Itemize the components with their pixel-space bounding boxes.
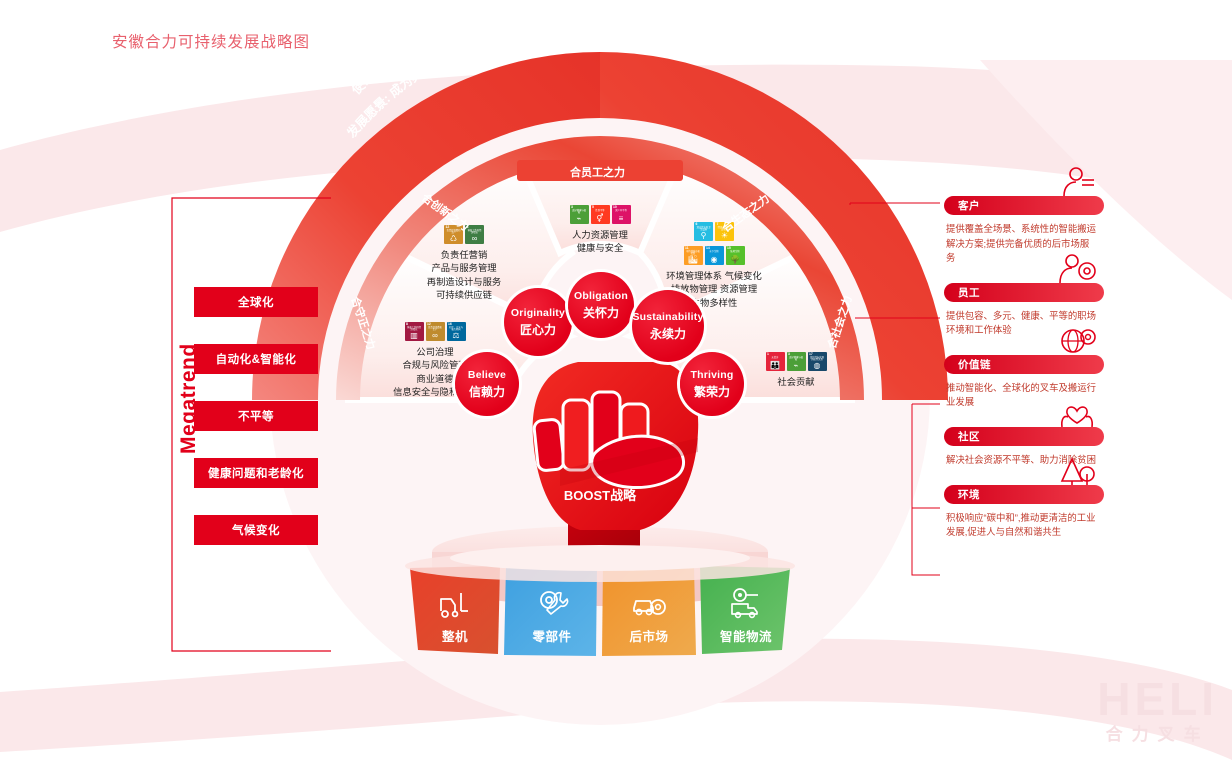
stakeholder-desc: 积极响应“碳中和”,推动更清洁的工业发展,促进人与自然和谐共生: [944, 511, 1098, 540]
megatrend-item-health-aging[interactable]: 健康问题和老龄化: [194, 458, 318, 488]
sdg-governance-icons: 8 体面工作和经济增长 ▥ 12 负责任消费和生产 ∞ 16 和平、正义与强大机…: [376, 322, 494, 341]
boost-circle-obligation[interactable]: Obligation 关怀力: [568, 272, 634, 338]
sdg-employee-icons: 3 良好健康与福祉 ⌁ 5 性别平等 ⚥ 10 减少不平等 ≡: [540, 205, 660, 224]
segment-parts[interactable]: 零部件: [508, 568, 596, 656]
stakeholder-label: 社区: [944, 427, 1104, 446]
wedge-arc-label-employee: 合员工之力: [570, 164, 625, 180]
stakeholder-panel: 客户 提供覆盖全场景、系统性的智能搬运解决方案;提供完备优质的后市场服务 员工 …: [944, 196, 1104, 557]
svg-text:BOOST战略: BOOST战略: [564, 488, 637, 503]
wedge-line: 社会贡献: [742, 376, 850, 389]
wedge-content-society: 1 无贫穷 👪 3 良好健康与福祉 ⌁ 17 促进目标实现的伙伴关系 ◍ 社会贡…: [742, 352, 850, 389]
megatrend-item-inequality[interactable]: 不平等: [194, 401, 318, 431]
sdg-tile: 12 负责任消费和生产 ∞: [426, 322, 445, 341]
sdg-tile: 17 促进目标实现的伙伴关系 ◍: [808, 352, 827, 371]
sdg-tile: 11 可持续城市和社区 🏙: [684, 246, 703, 265]
boost-circle-originality[interactable]: Originality 匠心力: [504, 288, 572, 356]
sdg-tile: 10 减少不平等 ≡: [612, 205, 631, 224]
segment-whole-machine[interactable]: 整机: [411, 568, 499, 656]
sdg-tile: 6 清洁饮水和卫生设施 ⚲: [694, 222, 713, 241]
tree-leaf-icon: [1056, 455, 1098, 487]
wedge-line: 健康与安全: [540, 242, 660, 255]
segment-aftermarket[interactable]: 后市场: [605, 568, 693, 656]
wedge-line: 环境管理体系 气候变化: [652, 270, 776, 283]
employee-gear-icon: [1056, 253, 1098, 285]
stakeholder-label: 客户: [944, 196, 1104, 215]
segment-smart-logistics[interactable]: 智能物流: [702, 568, 790, 656]
gear-wrench-icon: [535, 587, 569, 619]
sdg-tile: 3 良好健康与福祉 ⌁: [570, 205, 589, 224]
globe-gear-icon: [1056, 325, 1098, 357]
megatrend-list: 全球化 自动化&智能化 不平等 健康问题和老龄化 气候变化: [194, 287, 318, 572]
sdg-tile: 8 体面工作和经济增长 ▥: [405, 322, 424, 341]
wedge-line: 负责任营销: [404, 249, 524, 262]
stakeholder-label: 员工: [944, 283, 1104, 302]
sdg-tile: 16 和平、正义与强大机构 ⚖: [447, 322, 466, 341]
hands-heart-icon: [1056, 397, 1098, 429]
segment-label: 后市场: [629, 626, 668, 645]
car-gear-icon: [631, 589, 667, 619]
wedge-line: 再制造设计与服务: [404, 276, 524, 289]
megatrend-item-automation[interactable]: 自动化&智能化: [194, 344, 318, 374]
sdg-tile: 1 无贫穷 👪: [766, 352, 785, 371]
customer-icon: [1056, 166, 1098, 198]
page-title: 安徽合力可持续发展战略图: [112, 30, 310, 52]
segment-label: 整机: [442, 626, 468, 645]
boost-circle-believe[interactable]: Believe 信赖力: [455, 352, 519, 416]
segment-label: 智能物流: [720, 626, 772, 645]
megatrend-item-climate[interactable]: 气候变化: [194, 515, 318, 545]
wedge-line: 可持续供应链: [404, 289, 524, 302]
business-segments: 整机 零部件 后市场 智能物流: [405, 560, 795, 660]
sdg-environment-icons-row1: 6 清洁饮水和卫生设施 ⚲ 7 经济适用的清洁能源 ☀: [652, 222, 776, 241]
sdg-tile: 15 陆地生物 🌳: [726, 246, 745, 265]
segment-label: 零部件: [532, 626, 571, 645]
forklift-icon: [437, 589, 473, 619]
stakeholder-label: 价值链: [944, 355, 1104, 374]
boost-circle-thriving[interactable]: Thriving 繁荣力: [680, 352, 744, 416]
wedge-content-employee: 3 良好健康与福祉 ⌁ 5 性别平等 ⚥ 10 减少不平等 ≡ 人力资源管理 健…: [540, 205, 660, 256]
boost-circle-sustainability[interactable]: Sustainability 永续力: [632, 290, 704, 362]
sdg-tile: 14 水下生物 ◉: [705, 246, 724, 265]
wedge-line: 人力资源管理: [540, 229, 660, 242]
sdg-environment-icons-row2: 11 可持续城市和社区 🏙 14 水下生物 ◉ 15 陆地生物 🌳: [652, 246, 776, 265]
sdg-tile: 5 性别平等 ⚥: [591, 205, 610, 224]
sdg-society-icons: 1 无贫穷 👪 3 良好健康与福祉 ⌁ 17 促进目标实现的伙伴关系 ◍: [742, 352, 850, 371]
stakeholder-item-environment[interactable]: 环境 积极响应“碳中和”,推动更清洁的工业发展,促进人与自然和谐共生: [944, 485, 1104, 540]
wedge-line: 产品与服务管理: [404, 262, 524, 275]
sdg-tile: 3 良好健康与福祉 ⌁: [787, 352, 806, 371]
wedge-content-innovation: 12 负责任消费和生产 ♺ 8 体面工作和经济增长 ∞ 负责任营销 产品与服务管…: [404, 225, 524, 303]
megatrend-panel: Megatrend 全球化 自动化&智能化 不平等 健康问题和老龄化 气候变化: [156, 197, 331, 652]
stakeholder-label: 环境: [944, 485, 1104, 504]
truck-pin-icon: [728, 587, 764, 619]
megatrend-item-globalization[interactable]: 全球化: [194, 287, 318, 317]
